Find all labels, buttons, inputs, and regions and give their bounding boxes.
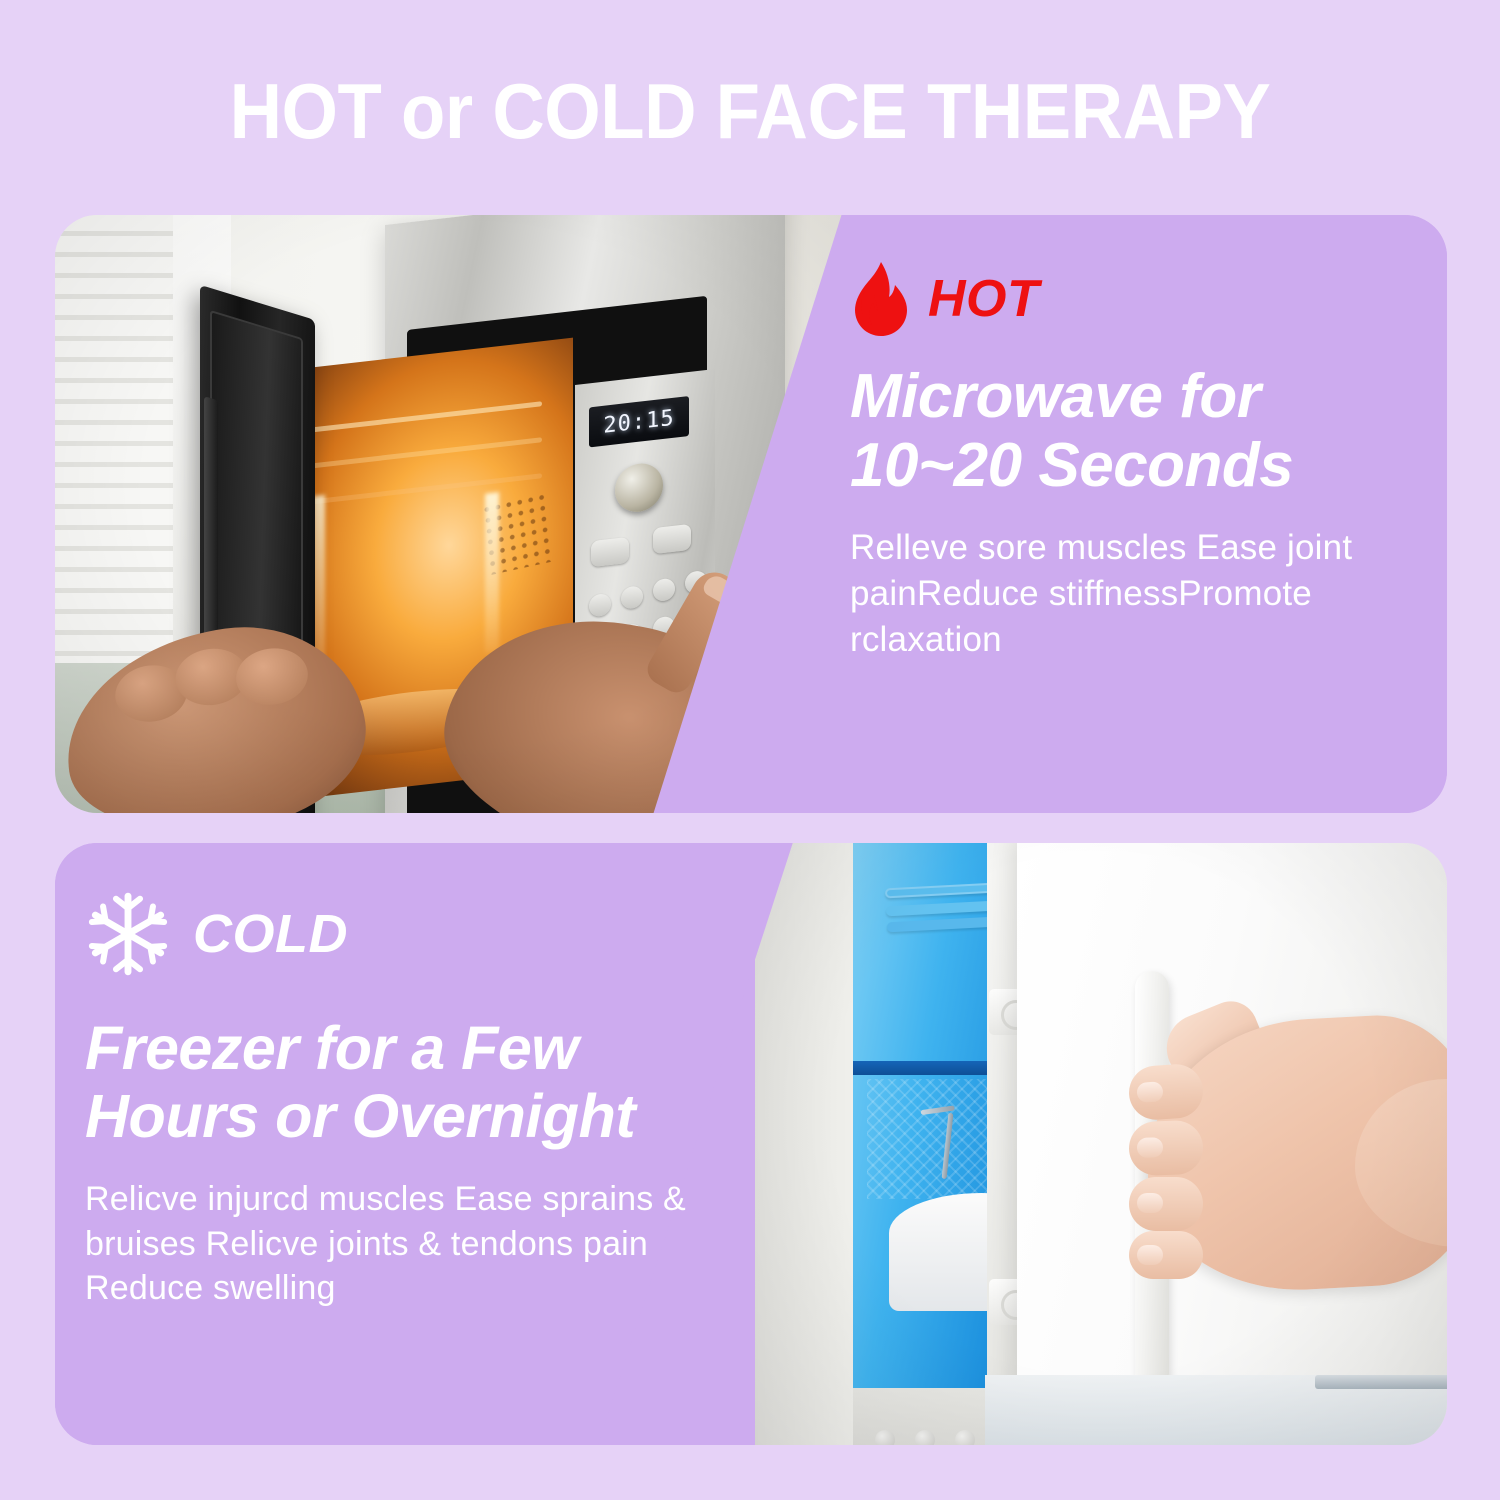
cavity-rack: [294, 401, 542, 434]
fingernail: [1137, 1193, 1163, 1213]
fingernail: [1137, 1245, 1163, 1265]
hot-badge-label: HOT: [928, 273, 1039, 325]
finger-4: [1129, 1231, 1203, 1279]
infographic-page: HOT or COLD FACE THERAPY: [0, 0, 1500, 1500]
hot-content: HOT Microwave for 10~20 Seconds Relleve …: [850, 262, 1430, 663]
cold-body-text: Relicve injurcd muscles Ease sprains & b…: [85, 1177, 725, 1312]
cold-badge-row: COLD: [85, 888, 725, 980]
cold-content: COLD Freezer for a Few Hours or Overnigh…: [85, 888, 725, 1311]
display-value: 20:15: [603, 405, 674, 438]
snowflake-icon: [85, 888, 171, 980]
flame-icon: [850, 262, 912, 336]
preset-button-3[interactable]: [653, 578, 675, 603]
power-knob[interactable]: [615, 461, 663, 514]
preset-button-1[interactable]: [589, 593, 611, 618]
hot-headline: Microwave for 10~20 Seconds: [850, 362, 1430, 501]
fridge-side-panel: [755, 843, 855, 1445]
clock-button[interactable]: [653, 524, 691, 554]
cavity-glow-right: [485, 492, 499, 654]
hot-body-text: Relleve sore muscles Ease joint painRedu…: [850, 525, 1430, 664]
cold-headline: Freezer for a Few Hours or Overnight: [85, 1014, 725, 1151]
finger-3: [1129, 1177, 1203, 1231]
cold-badge-label: COLD: [193, 907, 348, 961]
panel-dot: [915, 1430, 935, 1445]
preset-button-2[interactable]: [621, 585, 643, 610]
chrome-trim: [1315, 1375, 1447, 1389]
fingernail: [1137, 1137, 1164, 1158]
page-title: HOT or COLD FACE THERAPY: [53, 72, 1448, 150]
fingernail: [1136, 1081, 1163, 1103]
microwave-display: 20:15: [589, 396, 689, 447]
hot-badge-row: HOT: [850, 262, 1430, 336]
finger-2: [1128, 1120, 1204, 1177]
knuckle: [232, 644, 311, 709]
stop-button[interactable]: [591, 537, 629, 567]
panel-dot: [955, 1430, 975, 1445]
panel-dot: [875, 1430, 895, 1445]
freezer-photo: [755, 843, 1447, 1445]
